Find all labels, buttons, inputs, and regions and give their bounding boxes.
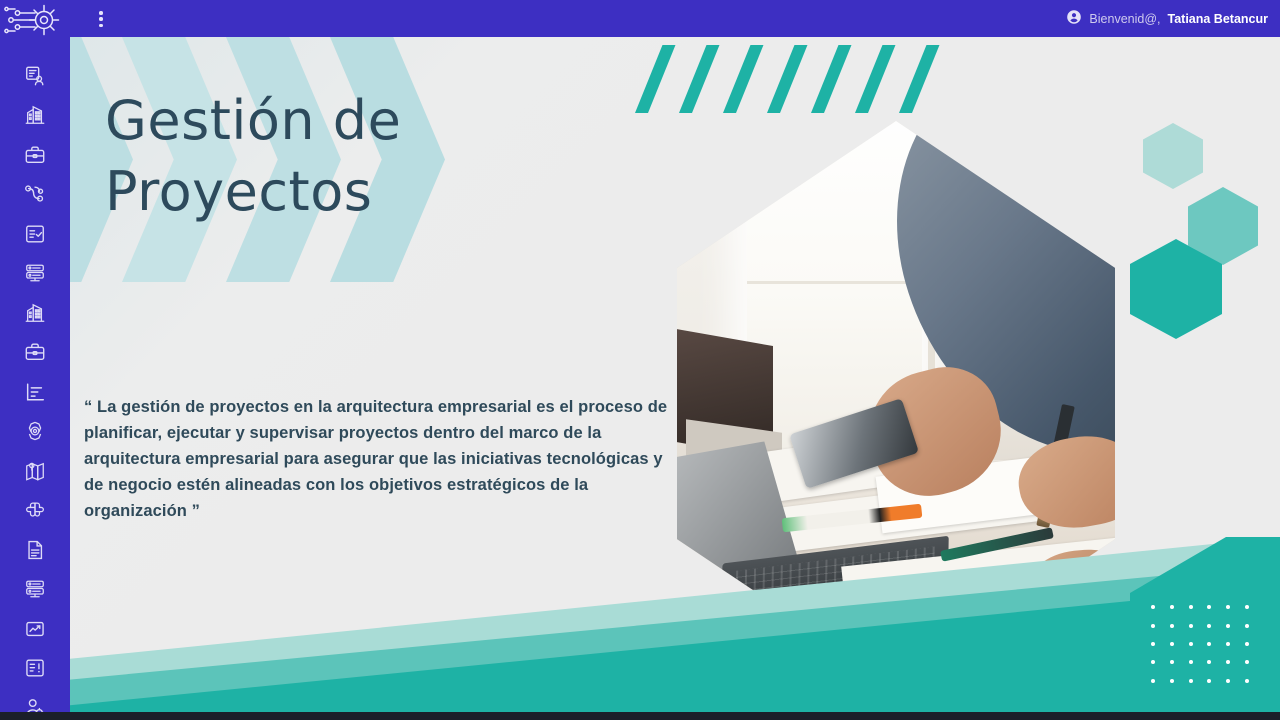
photo-sleeve-fold <box>1087 121 1115 181</box>
page-title: Gestión de Proyectos <box>105 85 585 228</box>
grid-dot <box>1151 624 1155 628</box>
welcome-prefix: Bienvenid@, <box>1089 12 1160 26</box>
sidebar-item-servidores[interactable] <box>0 570 70 610</box>
sidebar-item-mapa[interactable] <box>0 451 70 491</box>
sidebar-item-indicadores[interactable] <box>0 372 70 412</box>
grid-dot <box>1226 605 1230 609</box>
slash-shape <box>855 45 895 113</box>
grid-dot <box>1151 642 1155 646</box>
bottom-band-decoration <box>70 522 1280 712</box>
photo-sleeve-fold <box>1048 121 1115 134</box>
sidebar-item-proyectos[interactable] <box>0 333 70 373</box>
dot-grid-decoration <box>1144 598 1256 690</box>
slash-decoration <box>635 45 955 113</box>
user-name: Tatiana Betancur <box>1168 12 1269 26</box>
grid-dot <box>1151 679 1155 683</box>
sidebar-item-solicitudes[interactable] <box>0 56 70 96</box>
alert-document-icon <box>24 657 46 679</box>
sidebar-item-dependencias[interactable] <box>0 293 70 333</box>
grid-dot <box>1170 605 1174 609</box>
grid-dot <box>1189 660 1193 664</box>
sidebar-item-portafolio[interactable] <box>0 135 70 175</box>
map-icon <box>24 460 46 482</box>
sidebar-item-organizacion[interactable] <box>0 96 70 136</box>
grid-dot <box>1189 605 1193 609</box>
server-icon <box>24 262 46 284</box>
slash-shape <box>899 45 939 113</box>
topbar: Bienvenid@, Tatiana Betancur <box>70 0 1280 37</box>
grid-dot <box>1207 660 1211 664</box>
kebab-dot <box>99 24 103 28</box>
kebab-dot <box>99 17 103 21</box>
sidebar-item-procesos[interactable] <box>0 175 70 215</box>
title-line-1: Gestión de <box>105 85 585 156</box>
grid-dot <box>1207 605 1211 609</box>
grid-dot <box>1226 679 1230 683</box>
document-user-icon <box>24 65 46 87</box>
grid-dot <box>1170 660 1174 664</box>
more-options-button[interactable] <box>90 8 112 30</box>
user-welcome[interactable]: Bienvenid@, Tatiana Betancur <box>1066 0 1268 37</box>
checklist-icon <box>24 223 46 245</box>
grid-dot <box>1245 679 1249 683</box>
server-alt-icon <box>24 578 46 600</box>
slash-shape <box>635 45 675 113</box>
sidebar <box>0 0 70 720</box>
grid-dot <box>1151 660 1155 664</box>
sidebar-item-tareas[interactable] <box>0 214 70 254</box>
slash-shape <box>811 45 851 113</box>
sidebar-item-alertas[interactable] <box>0 649 70 689</box>
grid-dot <box>1189 642 1193 646</box>
network-icon <box>24 499 46 521</box>
sidebar-item-list <box>0 56 70 720</box>
grid-dot <box>1189 624 1193 628</box>
grid-dot <box>1170 642 1174 646</box>
title-line-2: Proyectos <box>105 156 585 227</box>
grid-dot <box>1207 624 1211 628</box>
grid-dot <box>1245 605 1249 609</box>
briefcase-icon <box>24 144 46 166</box>
briefcase-alt-icon <box>24 341 46 363</box>
grid-dot <box>1170 624 1174 628</box>
hexagon-decoration-small <box>1143 123 1203 189</box>
grid-dot <box>1226 642 1230 646</box>
grid-dot <box>1207 679 1211 683</box>
grid-dot <box>1226 660 1230 664</box>
sidebar-item-documentos[interactable] <box>0 530 70 570</box>
bar-chart-icon <box>24 381 46 403</box>
grid-dot <box>1170 679 1174 683</box>
slash-shape <box>723 45 763 113</box>
grid-dot <box>1207 642 1211 646</box>
app-window: Bienvenid@, Tatiana Betancur Gestión de … <box>0 0 1280 720</box>
grid-dot <box>1189 679 1193 683</box>
slash-shape <box>679 45 719 113</box>
building-alt-icon <box>24 302 46 324</box>
grid-dot <box>1245 660 1249 664</box>
sidebar-item-infraestructura[interactable] <box>0 254 70 294</box>
user-avatar-icon <box>1066 9 1082 28</box>
grid-dot <box>1226 624 1230 628</box>
grid-dot <box>1151 605 1155 609</box>
sidebar-item-reportes[interactable] <box>0 609 70 649</box>
slash-shape <box>767 45 807 113</box>
window-bottom-edge <box>0 712 1280 720</box>
quote-text: “ La gestión de proyectos en la arquitec… <box>84 395 684 524</box>
grid-dot <box>1245 624 1249 628</box>
tech-gear-logo[interactable] <box>2 2 64 38</box>
building-icon <box>24 104 46 126</box>
sidebar-item-configuracion[interactable] <box>0 412 70 452</box>
trending-chart-icon <box>24 618 46 640</box>
slide-canvas: Gestión de Proyectos <box>70 37 1280 712</box>
document-icon <box>24 539 46 561</box>
gear-hex-icon <box>24 420 46 442</box>
grid-dot <box>1245 642 1249 646</box>
kebab-dot <box>99 11 103 15</box>
sidebar-item-arquitectura[interactable] <box>0 491 70 531</box>
pipeline-icon <box>24 183 46 205</box>
